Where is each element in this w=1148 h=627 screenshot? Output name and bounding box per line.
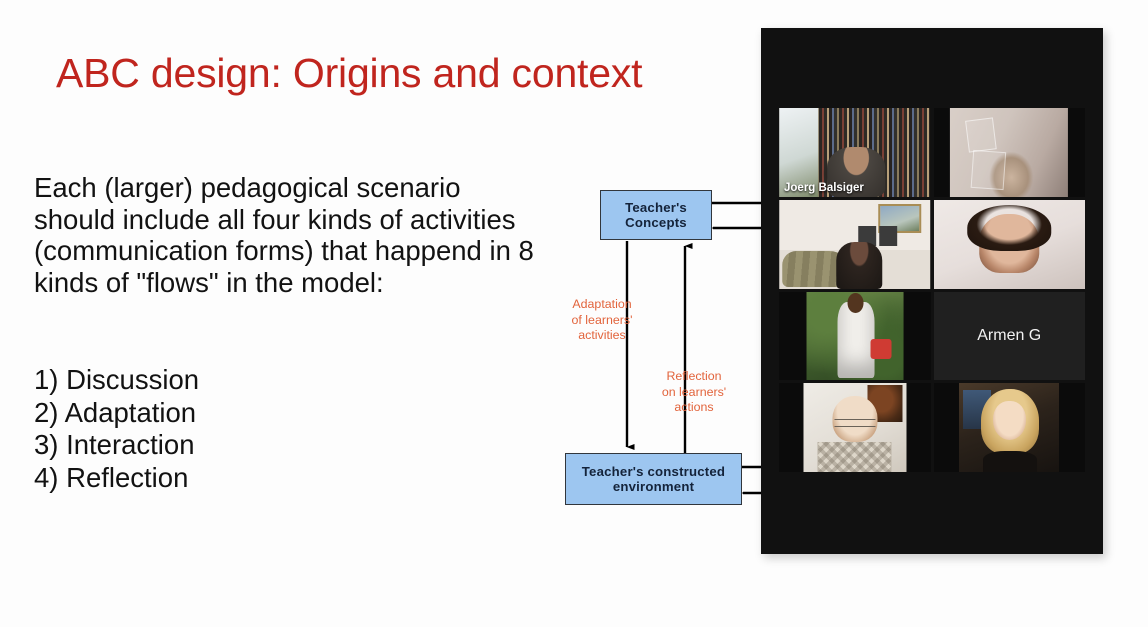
webcam-scene-washed-room [950,108,1068,197]
video-tile-joerg-balsiger[interactable]: Joerg Balsiger [779,108,931,197]
video-feed [779,200,931,289]
video-tile-participant-7[interactable] [779,383,931,472]
slide-title: ABC design: Origins and context [56,50,642,97]
video-feed [779,383,931,472]
presentation-slide: ABC design: Origins and context Each (la… [0,0,1148,627]
diagram-box-teachers-concepts: Teacher's Concepts [600,190,712,240]
participant-name-label: Armen G [934,292,1086,381]
red-bag [870,339,891,359]
diagram-label-adaptation: Adaptation of learners' activities [552,297,652,344]
video-tile-participant-4[interactable] [934,200,1086,289]
video-frame [934,200,1086,289]
diagram-box-teachers-constructed-environment: Teacher's constructed environment [565,453,742,505]
flows-list: 1) Discussion 2) Adaptation 3) Interacti… [34,364,354,494]
person-torso [983,451,1037,472]
video-feed [934,383,1086,472]
video-feed [934,200,1086,289]
webcam-scene-blonde-woman [959,383,1059,472]
video-participant-grid: Joerg Balsiger [779,108,1085,472]
video-frame [779,200,931,289]
person-silhouette [837,242,882,288]
video-tile-participant-8[interactable] [934,383,1086,472]
video-tile-armen-g[interactable]: Armen G [934,292,1086,381]
video-call-panel: Joerg Balsiger [761,28,1103,554]
person-torso [818,442,892,472]
video-tile-participant-3[interactable] [779,200,931,289]
list-item: 3) Interaction [34,429,354,462]
slide-body-paragraph: Each (larger) pedagogical scenario shoul… [34,172,534,298]
webcam-scene-garden-portrait [806,292,903,381]
person-face [993,401,1026,440]
video-frame [806,292,903,381]
list-item: 4) Reflection [34,462,354,495]
video-tile-participant-2[interactable] [934,108,1086,197]
video-frame [803,383,906,472]
video-tile-participant-5[interactable] [779,292,931,381]
webcam-scene-bald-man-glasses [803,383,906,472]
video-feed [934,108,1086,197]
glasses-icon [834,419,875,427]
video-frame [950,108,1068,197]
webcam-scene-living-room [779,200,931,289]
list-item: 1) Discussion [34,364,354,397]
video-frame [959,383,1059,472]
person-figure [837,302,874,378]
webcam-scene-woman-hand-on-face [934,200,1086,289]
list-item: 2) Adaptation [34,397,354,430]
video-feed [779,292,931,381]
diagram-label-reflection: Reflection on learners' actions [644,369,744,416]
participant-name-label: Joerg Balsiger [784,182,864,194]
